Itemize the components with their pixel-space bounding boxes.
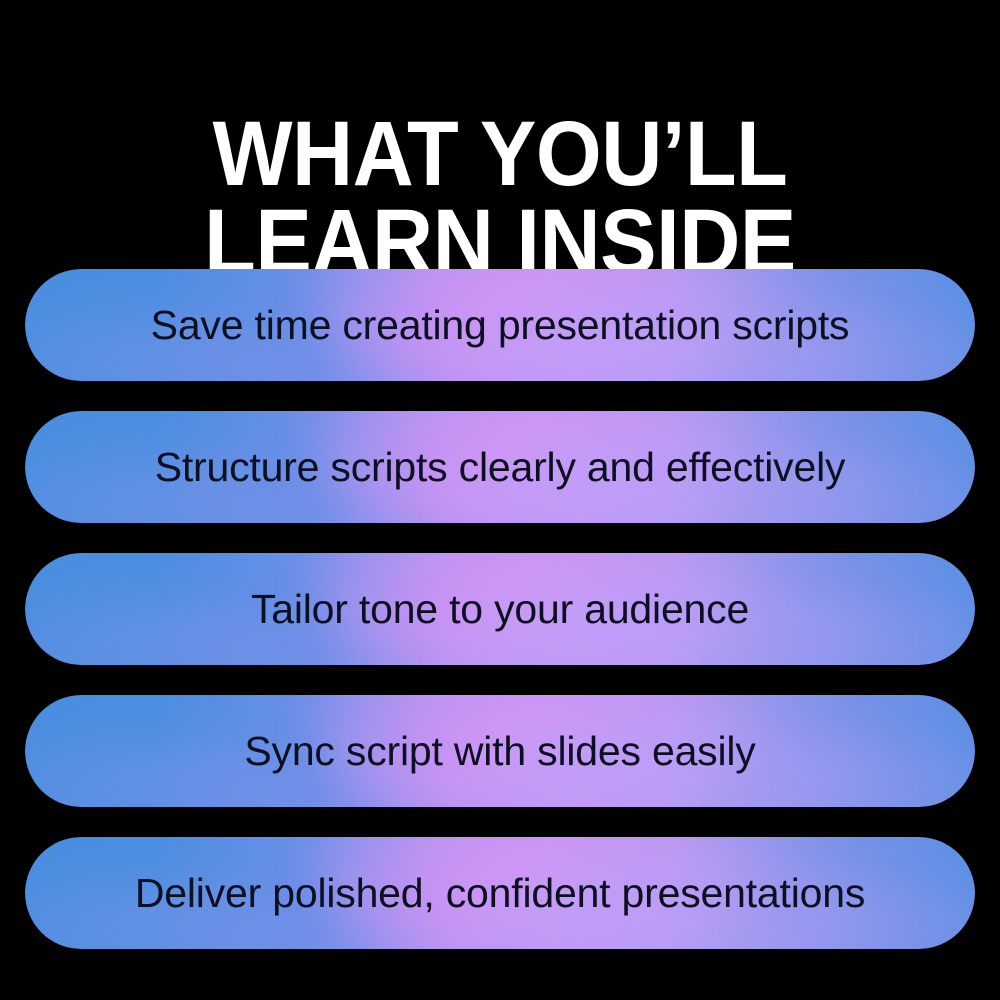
page-title: WHAT YOU’LL LEARN INSIDE: [40, 110, 960, 287]
benefit-pill-1[interactable]: Save time creating presentation scripts: [25, 269, 975, 381]
benefit-label: Sync script with slides easily: [244, 731, 755, 772]
benefit-pill-4[interactable]: Sync script with slides easily: [25, 695, 975, 807]
page-title-line-1: WHAT YOU’LL: [40, 110, 960, 198]
benefit-list: Save time creating presentation scripts …: [25, 269, 975, 949]
benefit-pill-3[interactable]: Tailor tone to your audience: [25, 553, 975, 665]
benefit-pill-2[interactable]: Structure scripts clearly and effectivel…: [25, 411, 975, 523]
benefit-pill-5[interactable]: Deliver polished, confident presentation…: [25, 837, 975, 949]
slide-canvas: WHAT YOU’LL LEARN INSIDE Save time creat…: [0, 0, 1000, 1000]
benefit-label: Structure scripts clearly and effectivel…: [155, 447, 846, 488]
benefit-label: Deliver polished, confident presentation…: [135, 873, 865, 914]
benefit-label: Tailor tone to your audience: [251, 589, 749, 630]
benefit-label: Save time creating presentation scripts: [151, 305, 850, 346]
